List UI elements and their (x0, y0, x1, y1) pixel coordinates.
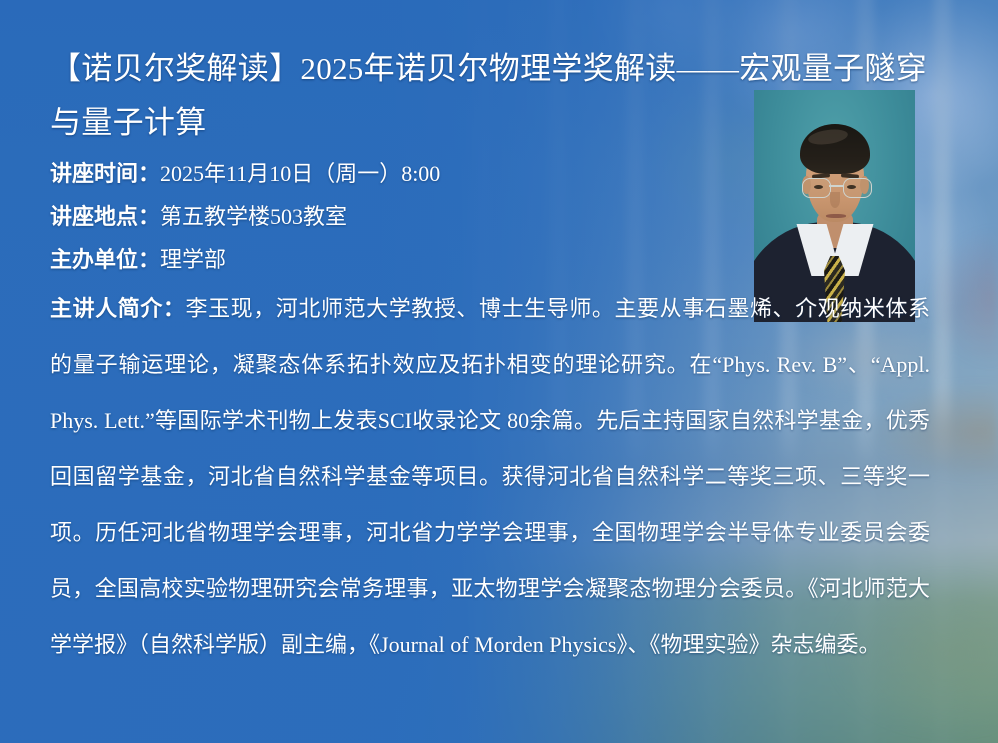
lecture-location-row: 讲座地点：第五教学楼503教室 (50, 195, 347, 238)
lecture-location-value: 第五教学楼503教室 (160, 204, 347, 229)
lecture-organizer-row: 主办单位：理学部 (50, 238, 226, 281)
lecture-time-value: 2025年11月10日（周一）8:00 (160, 161, 440, 186)
poster-content: 【诺贝尔奖解读】2025年诺贝尔物理学奖解读——宏观量子隧穿与量子计算 讲座时间… (0, 0, 998, 743)
lecture-location-label: 讲座地点： (50, 204, 160, 229)
speaker-bio: 主讲人简介：李玉现，河北师范大学教授、博士生导师。主要从事石墨烯、介观纳米体系的… (50, 281, 930, 673)
lecture-organizer-label: 主办单位： (50, 247, 160, 272)
poster-title: 【诺贝尔奖解读】2025年诺贝尔物理学奖解读——宏观量子隧穿与量子计算 (50, 42, 950, 150)
speaker-bio-text: 李玉现，河北师范大学教授、博士生导师。主要从事石墨烯、介观纳米体系的量子输运理论… (50, 296, 930, 657)
lecture-organizer-value: 理学部 (160, 247, 226, 272)
lecture-time-row: 讲座时间：2025年11月10日（周一）8:00 (50, 152, 440, 195)
speaker-bio-label: 主讲人简介： (50, 296, 185, 321)
lecture-poster: 【诺贝尔奖解读】2025年诺贝尔物理学奖解读——宏观量子隧穿与量子计算 讲座时间… (0, 0, 998, 743)
lecture-time-label: 讲座时间： (50, 161, 160, 186)
